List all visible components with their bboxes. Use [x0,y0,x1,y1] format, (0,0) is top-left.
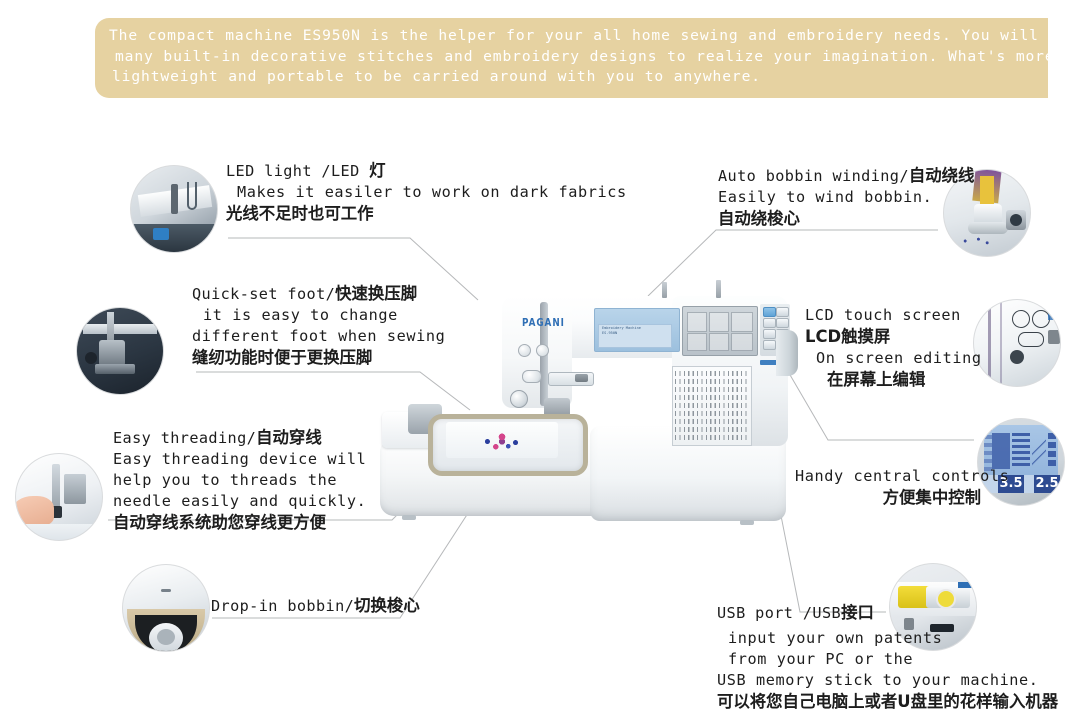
callout-usb-port-line4: USB memory stick to your machine. [717,670,1058,691]
thread-cutter-button[interactable] [536,344,549,357]
callout-easy-threading-title: Easy threading/自动穿线 [113,427,366,449]
stitch-chart-row [675,411,749,416]
machine-foot-left [402,515,416,520]
stitch-chart-row [675,395,749,400]
callout-usb-port-title: USB port /USB接口 [717,602,1058,624]
callout-led-light-title: LED light /LED 灯 [226,160,627,182]
screen-cell [731,333,753,351]
stitch-chart-row [675,427,749,432]
infographic-canvas: The compact machine ES950N is the helper… [0,0,1088,728]
screen-cell [709,312,729,332]
callout-led-light: LED light /LED 灯 Makes it easiler to wor… [226,160,627,225]
callout-handy-central-controls-line2: 方便集中控制 [795,487,981,509]
callout-auto-bobbin-winding-line3: 自动绕梭心 [718,208,974,230]
keypad-key[interactable] [776,318,789,328]
keypad-key[interactable] [776,307,789,317]
callout-quick-set-foot-title: Quick-set foot/快速换压脚 [192,283,445,305]
callout-usb-port-line5: 可以将您自己电脑上或者U盘里的花样输入机器 [717,691,1058,713]
screen-cell [709,333,729,351]
callout-lcd-touch-screen: LCD touch screen LCD触摸屏 On screen editin… [805,305,982,391]
quick-set-foot-thumbnail [77,308,163,394]
stitch-chart-row [675,371,749,376]
handy-central-controls-thumbnail: 3.5 2.5 [978,419,1064,505]
screen-cell [687,333,707,351]
callout-lcd-touch-screen-title: LCD touch screen [805,305,982,326]
callout-lcd-touch-screen-line4: 在屏幕上编辑 [805,369,982,391]
callout-easy-threading-line3: help you to threads the [113,470,366,491]
callout-auto-bobbin-winding: Auto bobbin winding/自动绕线 Easily to wind … [718,165,974,230]
callout-handy-central-controls-title: Handy central controls [795,466,981,487]
screen-cell [687,312,707,332]
callout-quick-set-foot-line2: it is easy to change [192,305,445,326]
machine-foot-right [740,520,754,525]
callout-quick-set-foot: Quick-set foot/快速换压脚 it is easy to chang… [192,283,445,369]
keypad-key[interactable] [763,307,776,317]
stitch-chart-row [675,379,749,384]
embroidery-design [476,428,528,454]
callout-led-light-line3: 光线不足时也可工作 [226,203,627,225]
callout-usb-port: USB port /USB接口 input your own patents f… [717,602,1058,713]
lcd-touch-screen[interactable] [682,306,758,356]
callout-drop-in-bobbin: Drop-in bobbin/切换梭心 [211,595,420,617]
stitch-chart-row [675,419,749,424]
brand-logo: PAGANI [522,316,565,329]
callout-easy-threading-line5: 自动穿线系统助您穿线更方便 [113,512,366,534]
lcd-touch-screen-thumbnail [974,300,1060,386]
stitch-chart-row [675,403,749,408]
callout-lcd-touch-screen-line2: LCD触摸屏 [805,326,982,348]
reverse-stitch-button[interactable] [522,370,542,383]
lcd-stitch-length-value: 2.5 [1034,475,1060,493]
callout-drop-in-bobbin-title: Drop-in bobbin/切换梭心 [211,595,420,617]
callout-usb-port-line2: input your own patents [717,628,1058,649]
callout-handy-central-controls: Handy central controls 方便集中控制 [795,466,981,509]
speed-control-slider[interactable] [548,372,594,386]
hand-wheel[interactable] [776,330,798,376]
keypad-key[interactable] [763,329,776,339]
slider-knob[interactable] [575,374,588,382]
stitch-chart-row [675,435,749,440]
bobbin-winder-spindle [716,280,721,298]
keypad-key[interactable] [763,340,776,350]
callout-usb-port-line3: from your PC or the [717,649,1058,670]
callout-auto-bobbin-winding-title: Auto bobbin winding/自动绕线 [718,165,974,187]
stitch-chart-row [675,387,749,392]
callout-easy-threading-line2: Easy threading device will [113,449,366,470]
screen-cell [731,312,753,332]
tension-dial[interactable] [510,390,528,408]
callout-easy-threading-line4: needle easily and quickly. [113,491,366,512]
machine-model-text: Embroidery Machine ES-950N [602,326,668,336]
callout-led-light-line2: Makes it easiler to work on dark fabrics [226,182,627,203]
callout-auto-bobbin-winding-line2: Easily to wind bobbin. [718,187,974,208]
easy-threading-thumbnail [16,454,102,540]
callout-quick-set-foot-line3: different foot when sewing [192,326,445,347]
keypad-key[interactable] [763,318,776,328]
drop-in-bobbin-thumbnail [123,565,209,651]
stitch-pattern-chart [672,366,752,446]
needle-position-button[interactable] [518,344,531,357]
callout-lcd-touch-screen-line3: On screen editing [805,348,982,369]
callout-quick-set-foot-line4: 缝纫功能时便于更换压脚 [192,347,445,369]
led-light-thumbnail [131,166,217,252]
spool-pin [662,282,667,298]
callout-easy-threading: Easy threading/自动穿线 Easy threading devic… [113,427,366,534]
